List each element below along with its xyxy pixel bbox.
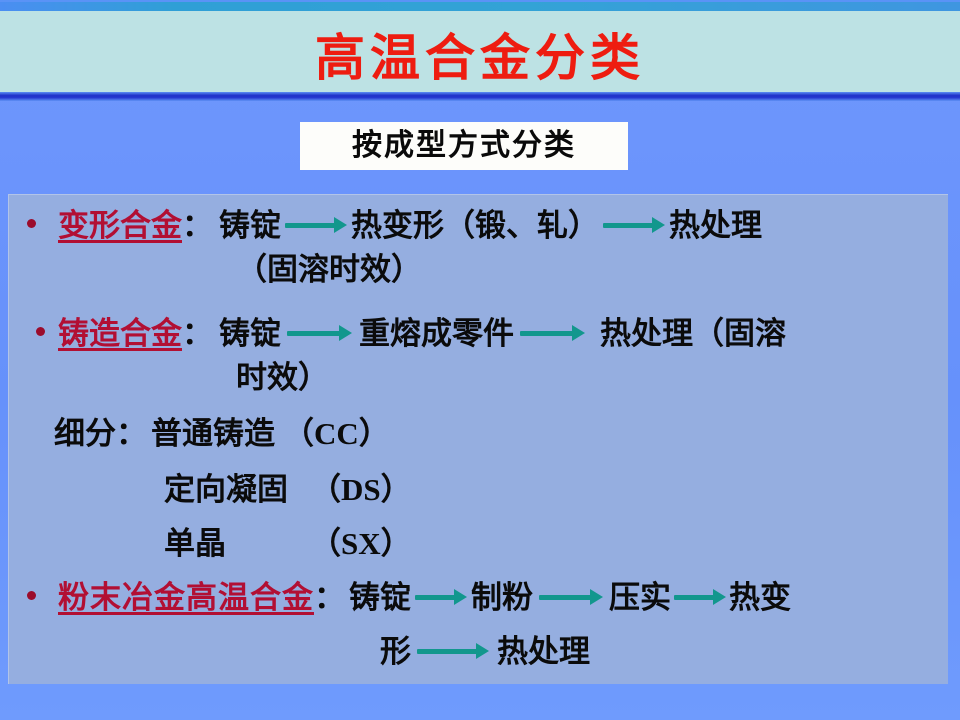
bullet-1-line-2: （固溶时效） [236,252,422,288]
list-item: 粉末冶金高温合金：铸锭 制粉 压实 热变 [14,580,791,616]
subtitle-text: 按成型方式分类 [352,129,576,163]
bullet-2-line-2-text: 时效） [236,360,329,395]
bullet-3-line-2-seg-1: 形 [380,634,411,669]
arrow-icon [520,324,586,342]
page-title: 高温合金分类 [0,29,960,87]
bullet-3-step-3: 压实 [609,580,671,615]
bullet-2-step-3: 热处理（固溶 [600,316,786,351]
bullet-2-colon: ： [182,316,213,351]
bullet-3-key: 粉末冶金高温合金 [58,580,314,615]
bullet-3-step-2: 制粉 [471,580,533,615]
bullet-3-step-4: 热变 [729,580,791,615]
bullet-2-key: 铸造合金 [58,316,182,351]
arrow-icon [539,588,603,606]
arrow-icon [674,588,726,606]
subtitle-box: 按成型方式分类 [300,122,628,170]
title-band: 高温合金分类 [0,11,960,92]
arrow-icon [287,324,353,342]
bullet-2-line-2: 时效） [236,360,329,396]
bullet-3-step-1: 铸锭 [349,580,411,615]
bullet-3-colon: ： [314,580,345,615]
sub-item-1-name: 定向凝固 [164,472,288,507]
subdivision-label: 细分： [54,416,147,451]
bullet-1-step-2: 热变形（锻、轧） [351,208,599,243]
sub-list-item: 细分：普通铸造（CC） [54,416,390,452]
sub-list-item: 单晶（SX） [164,526,412,562]
bullet-1-key: 变形合金 [58,208,182,243]
content-panel: 变形合金：铸锭 热变形（锻、轧） 热处理 （固溶时效） 铸造合金：铸锭 重熔成零… [8,194,948,684]
bullet-3-line-2-seg-2: 热处理 [497,634,590,669]
arrow-icon [603,216,665,234]
arrow-icon [285,216,347,234]
slide-root: 高温合金分类 按成型方式分类 变形合金：铸锭 热变形（锻、轧） 热处理 （固溶时… [0,0,960,720]
top-bar-edge [0,0,960,2]
top-decorative-bar [0,0,960,11]
bullet-1-step-1: 铸锭 [219,208,281,243]
sub-list-item: 定向凝固（DS） [164,472,412,508]
bullet-marker [14,208,58,244]
list-item: 铸造合金：铸锭 重熔成零件 热处理（固溶 [14,316,786,352]
sub-item-2-code: （SX） [310,526,412,561]
arrow-icon [417,642,491,660]
bullet-marker [14,316,58,352]
list-item: 变形合金：铸锭 热变形（锻、轧） 热处理 [14,208,762,244]
sub-item-0-name: 普通铸造 [151,416,275,451]
bullet-3-line-2: 形 热处理 [380,634,590,670]
sub-item-0-code: （CC） [283,416,390,451]
bullet-1-step-3: 热处理 [669,208,762,243]
bullet-1-line-2-text: （固溶时效） [236,252,422,287]
arrow-icon [415,588,467,606]
bullet-2-step-1: 铸锭 [219,316,281,351]
title-divider [0,92,960,101]
bullet-2-step-2: 重熔成零件 [359,316,514,351]
content-lines: 变形合金：铸锭 热变形（锻、轧） 热处理 （固溶时效） 铸造合金：铸锭 重熔成零… [8,194,948,684]
sub-item-2-name: 单晶 [164,526,226,561]
bullet-marker [14,580,58,616]
sub-item-1-code: （DS） [310,472,412,507]
bullet-1-colon: ： [182,208,213,243]
